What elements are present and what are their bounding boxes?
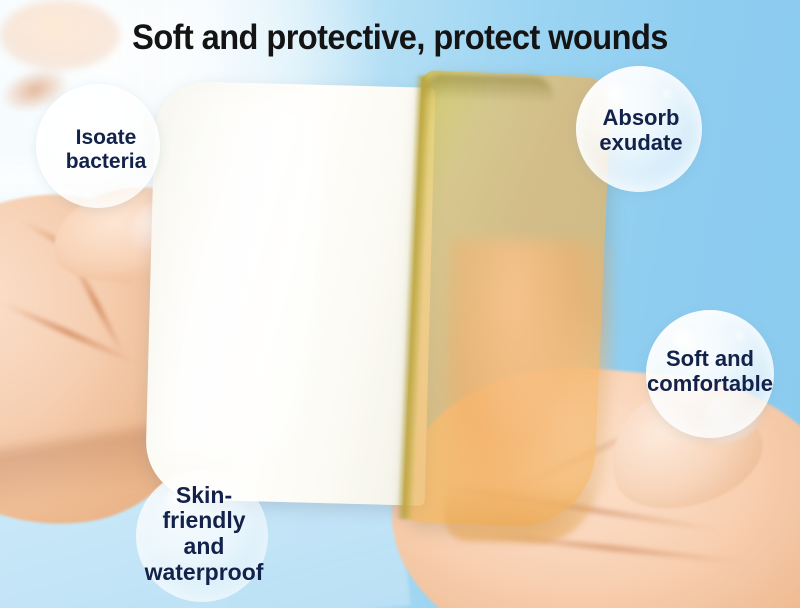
bubble-specular-icon bbox=[60, 102, 96, 128]
callout-skin-friendly-and-waterproof-label: Skin-friendly and waterproof bbox=[138, 483, 270, 586]
patch-top-edge-shadow bbox=[423, 74, 554, 103]
bubble-specular-small-icon bbox=[660, 88, 674, 99]
wound-dressing-patch bbox=[145, 81, 576, 512]
callout-absorb-exudate-label: Absorb exudate bbox=[599, 106, 682, 155]
callout-absorb-exudate: Absorb exudate bbox=[576, 66, 702, 192]
bubble-specular-icon bbox=[598, 82, 632, 106]
callout-skin-friendly-and-waterproof: Skin-friendly and waterproof bbox=[136, 470, 268, 602]
callout-soft-and-comfortable: Soft and comfortable bbox=[646, 310, 774, 438]
page-title: Soft and protective, protect wounds bbox=[28, 18, 772, 58]
callout-isolate-bacteria-label: Isoate bacteria bbox=[66, 126, 147, 173]
callout-isolate-bacteria: Isoate bacteria bbox=[36, 84, 160, 208]
callout-soft-and-comfortable-label: Soft and comfortable bbox=[646, 347, 774, 396]
product-feature-banner: Isoate bacteria Absorb exudate Soft and … bbox=[0, 0, 800, 608]
bubble-specular-small-icon bbox=[732, 330, 747, 342]
patch-backing-sheen bbox=[164, 95, 323, 459]
